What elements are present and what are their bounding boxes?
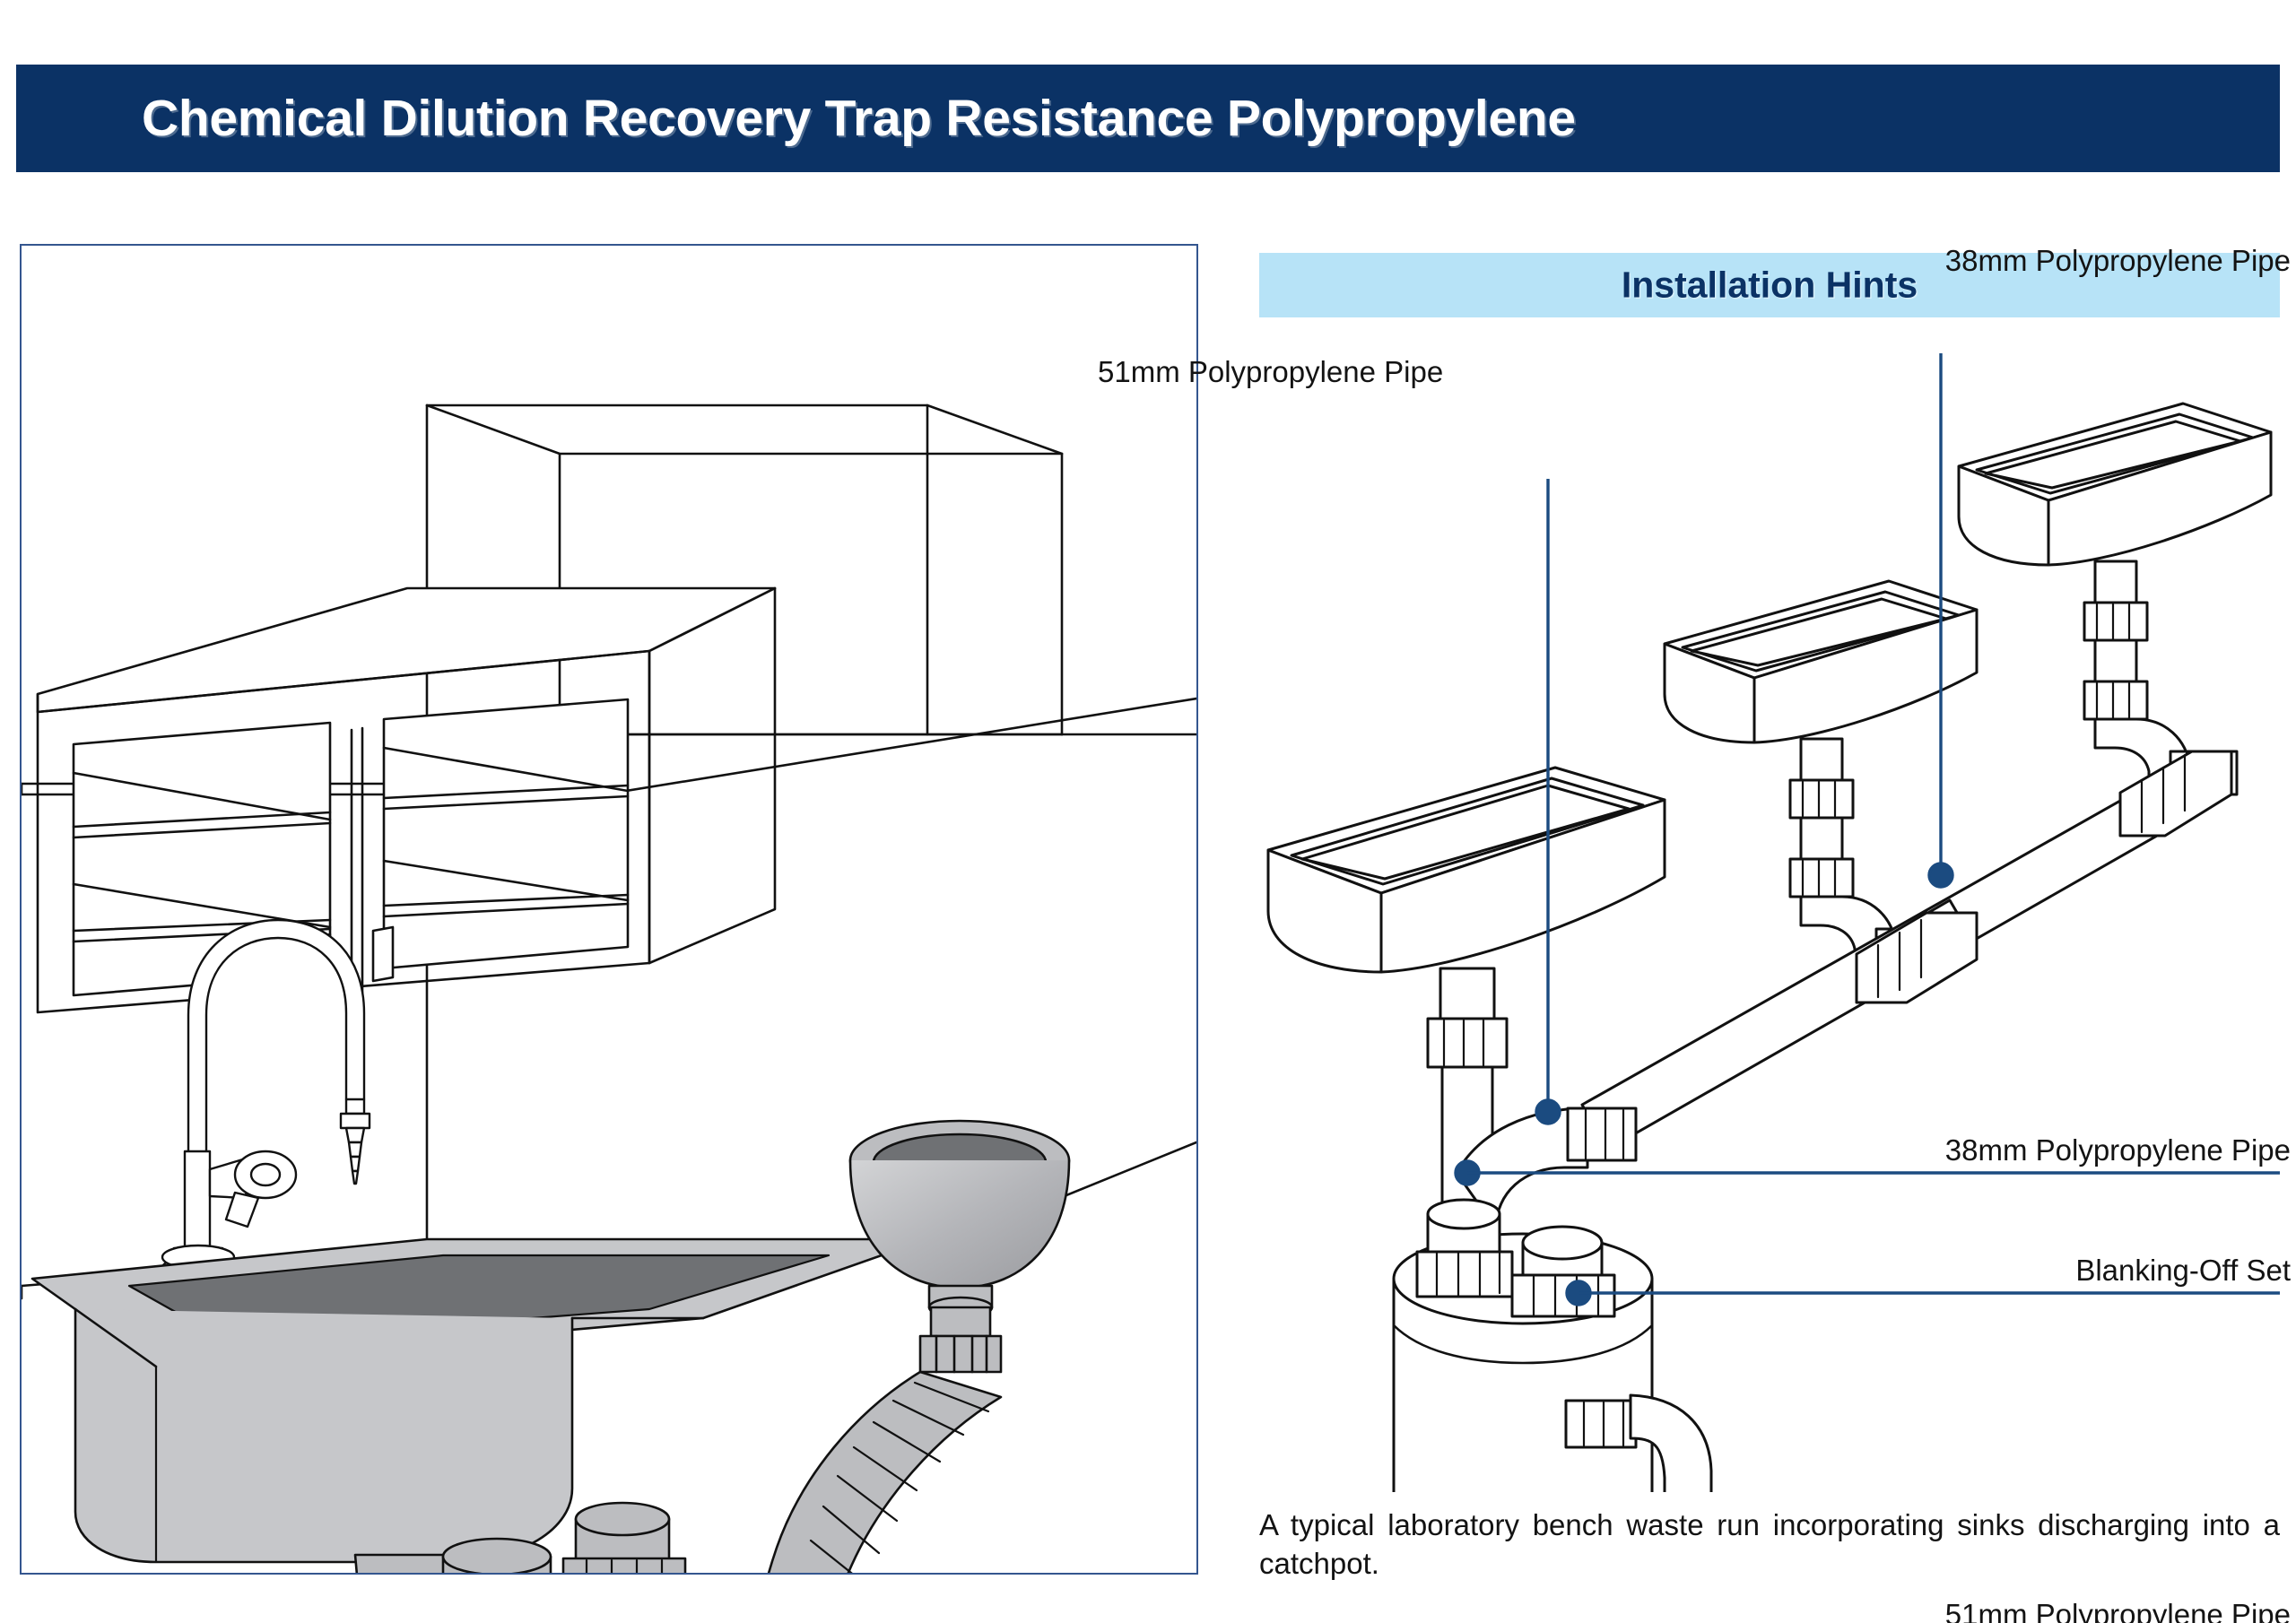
installation-hints-band: Installation Hints <box>1259 253 2280 317</box>
bench-scene-drawing <box>22 246 1196 1573</box>
sink-basin-2 <box>1665 581 1977 742</box>
corrugated-flexible-hose-right <box>756 1372 1001 1573</box>
leader-dot-upper-left <box>1536 1100 1560 1124</box>
page-root: Chemical Dilution Recovery Trap Resistan… <box>0 0 2296 1623</box>
title-bar: Chemical Dilution Recovery Trap Resistan… <box>16 65 2280 172</box>
blanking-off-cap <box>1512 1227 1614 1316</box>
waste-run-diagram <box>1259 326 2280 1492</box>
installation-hints-title: Installation Hints <box>1259 265 2280 307</box>
page-title: Chemical Dilution Recovery Trap Resistan… <box>142 89 1576 148</box>
callout-label-bottom-right: 51mm Polypropylene Pipe <box>1945 1598 2291 1623</box>
installation-hints-column: Installation Hints <box>1259 244 2280 1589</box>
waste-run-isometric-drawing <box>1259 326 2280 1492</box>
wall-cabinet <box>38 588 775 1012</box>
sink-basin-1 <box>1268 768 1665 972</box>
sloping-collector-pipe <box>1582 751 2231 1150</box>
drip-cup <box>850 1121 1069 1372</box>
sink-basin-3 <box>1959 404 2271 565</box>
left-illustration-panel <box>20 244 1198 1575</box>
diagram-caption: A typical laboratory bench waste run inc… <box>1259 1506 2280 1584</box>
leader-dot-top-right <box>1929 864 1952 887</box>
